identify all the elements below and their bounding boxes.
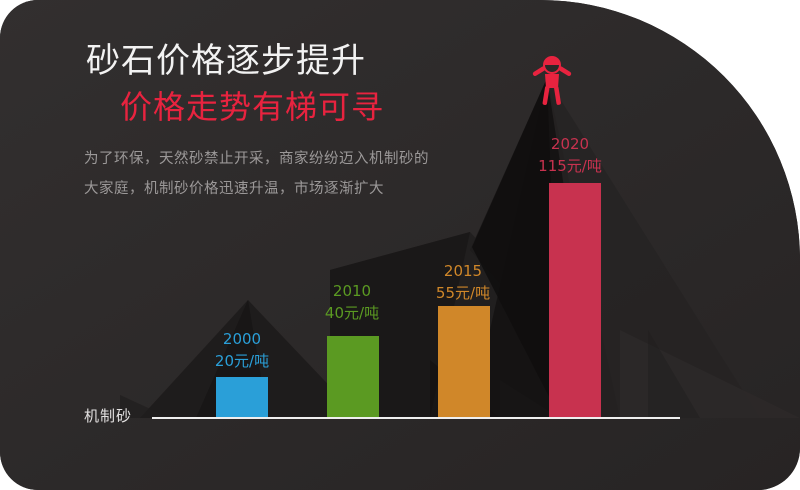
bar-label-2020: 2020 115元/吨 <box>505 133 635 177</box>
page-title: 砂石价格逐步提升 <box>86 33 366 82</box>
bar-2020[interactable] <box>549 183 601 418</box>
bar-year-2000: 2000 <box>177 328 307 350</box>
person-icon <box>529 54 575 106</box>
page-subtitle: 价格走势有梯可寻 <box>120 82 384 128</box>
bar-2010[interactable] <box>327 336 379 418</box>
bar-2000[interactable] <box>216 377 268 418</box>
slide-panel: 砂石价格逐步提升 价格走势有梯可寻 为了环保，天然砂禁止开采，商家纷纷迈入机制砂… <box>0 0 800 490</box>
axis-label: 机制砂 <box>84 405 132 426</box>
bar-year-2015: 2015 <box>398 260 528 282</box>
bar-value-2020: 115元/吨 <box>505 155 635 177</box>
baseline-rule <box>152 417 680 419</box>
bar-year-2010: 2010 <box>287 280 417 302</box>
body-paragraph: 为了环保，天然砂禁止开采，商家纷纷迈入机制砂的大家庭，机制砂价格迅速升温，市场逐… <box>84 144 429 204</box>
bar-label-2000: 2000 20元/吨 <box>177 328 307 372</box>
bar-value-2000: 20元/吨 <box>177 350 307 372</box>
bar-value-2015: 55元/吨 <box>398 282 528 304</box>
bar-label-2010: 2010 40元/吨 <box>287 280 417 324</box>
slide-canvas: 砂石价格逐步提升 价格走势有梯可寻 为了环保，天然砂禁止开采，商家纷纷迈入机制砂… <box>0 0 800 490</box>
bar-2015[interactable] <box>438 306 490 418</box>
bar-year-2020: 2020 <box>505 133 635 155</box>
bar-value-2010: 40元/吨 <box>287 302 417 324</box>
bar-label-2015: 2015 55元/吨 <box>398 260 528 304</box>
